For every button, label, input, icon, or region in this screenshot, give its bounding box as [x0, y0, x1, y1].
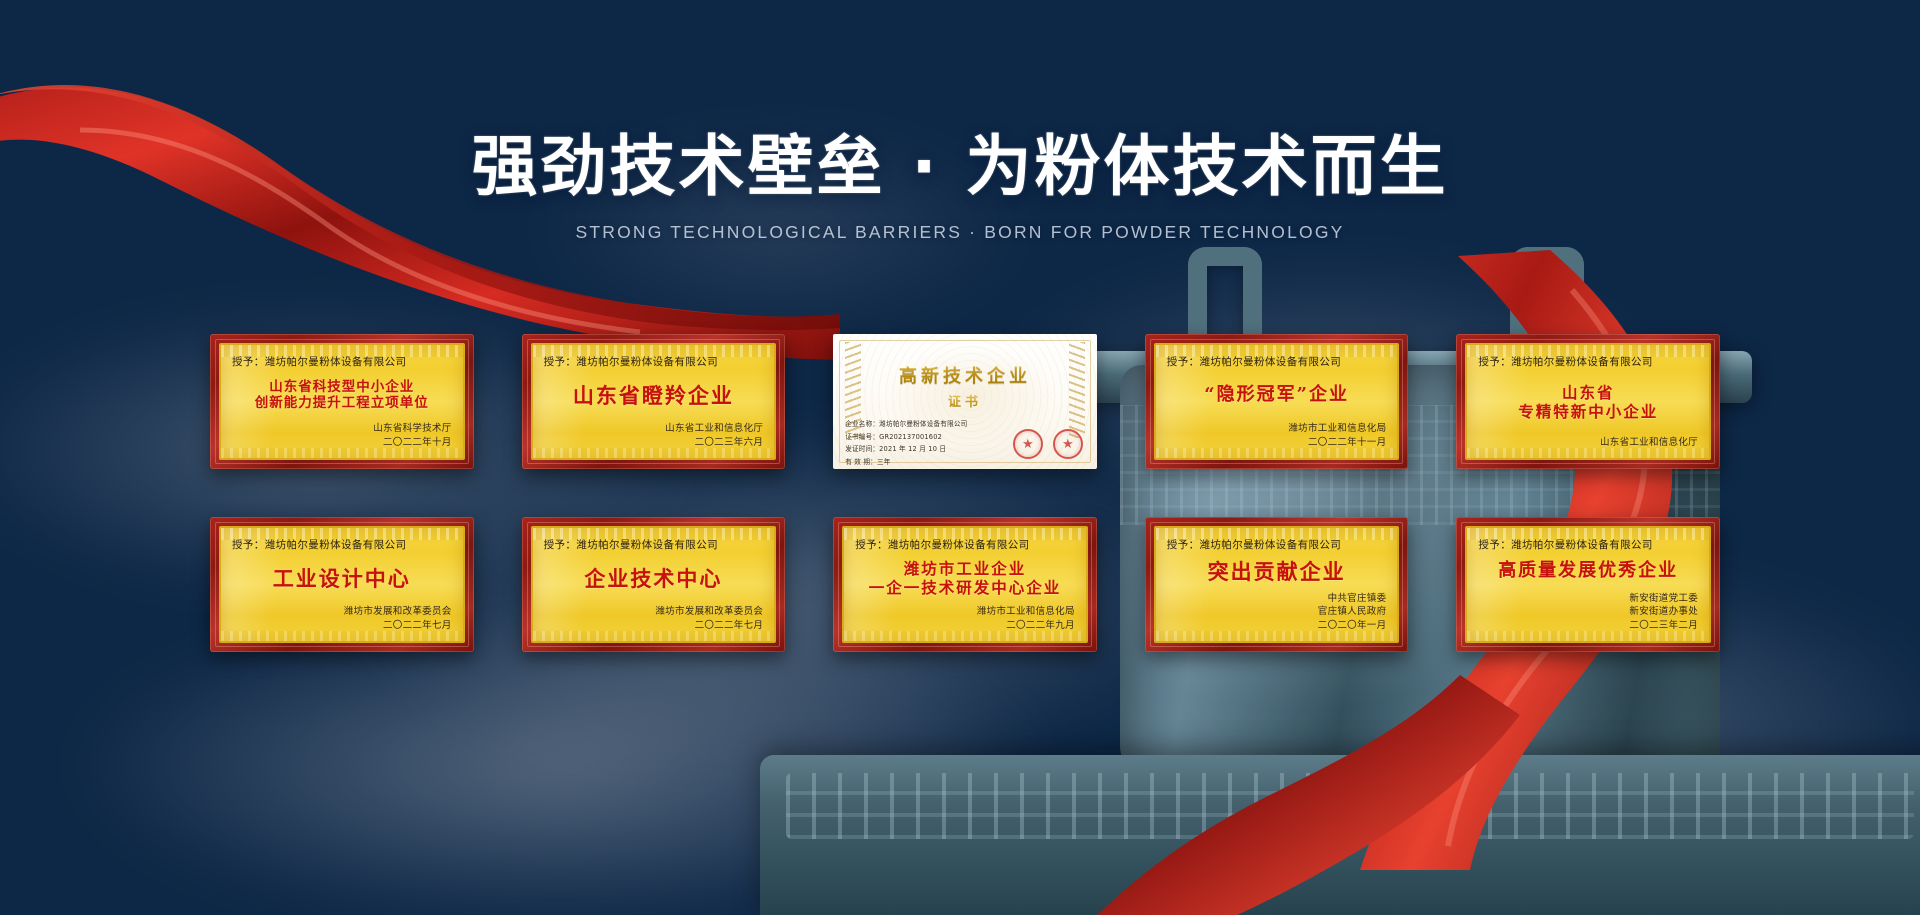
plaque-grantee: 授予：潍坊帕尔曼粉体设备有限公司 [855, 537, 1075, 552]
plaque-face: 授予：潍坊帕尔曼粉体设备有限公司“隐形冠军”企业潍坊市工业和信息化局二〇二二年十… [1154, 343, 1400, 460]
plaque-date: 二〇二三年六月 [544, 436, 764, 450]
plaque-award-title: 突出贡献企业 [1167, 552, 1387, 592]
plaque-issuer-block: 潍坊市发展和改革委员会二〇二二年七月 [544, 605, 764, 633]
certificate-paper[interactable]: 高新技术企业证书企业名称：潍坊帕尔曼粉体设备有限公司证书编号：GR2021370… [833, 334, 1097, 469]
plaque-issuer: 潍坊市发展和改革委员会 [544, 605, 764, 619]
plaque-title-line: 一企一技术研发中心企业 [869, 579, 1062, 597]
plaque-grantee: 授予：潍坊帕尔曼粉体设备有限公司 [1478, 537, 1698, 552]
plaque-date: 二〇二二年十一月 [1167, 436, 1387, 450]
plaque-issuer-block: 新安街道党工委新安街道办事处二〇二三年二月 [1478, 592, 1698, 633]
stone-plinth [760, 755, 1920, 915]
award-plaque[interactable]: 授予：潍坊帕尔曼粉体设备有限公司山东省专精特新中小企业山东省工业和信息化厅 [1456, 334, 1720, 469]
award-plaque[interactable]: 授予：潍坊帕尔曼粉体设备有限公司突出贡献企业中共官庄镇委官庄镇人民政府二〇二〇年… [1145, 517, 1409, 652]
plaque-issuer-block: 潍坊市发展和改革委员会二〇二二年七月 [232, 605, 452, 633]
official-seal-icon: ★ [1053, 429, 1083, 459]
banner-stage: 强劲技术壁垒 · 为粉体技术而生 STRONG TECHNOLOGICAL BA… [0, 0, 1920, 915]
plaque-date: 二〇二二年九月 [855, 619, 1075, 633]
plaque-issuer: 中共官庄镇委 [1167, 592, 1387, 606]
certificate-seals: ★★ [1013, 429, 1083, 459]
plaque-award-title: 山东省科技型中小企业创新能力提升工程立项单位 [232, 369, 452, 422]
award-plaque[interactable]: 授予：潍坊帕尔曼粉体设备有限公司企业技术中心潍坊市发展和改革委员会二〇二二年七月 [522, 517, 786, 652]
plaque-issuer: 新安街道办事处 [1478, 605, 1698, 619]
official-seal-icon: ★ [1013, 429, 1043, 459]
plaque-title-line: 企业技术中心 [584, 567, 722, 591]
plaque-title-line: 潍坊市工业企业 [904, 560, 1027, 578]
plaque-award-title: “隐形冠军”企业 [1167, 369, 1387, 422]
page-title: 强劲技术壁垒 · 为粉体技术而生 [0, 128, 1920, 206]
award-plaque[interactable]: 授予：潍坊帕尔曼粉体设备有限公司山东省瞪羚企业山东省工业和信息化厅二〇二三年六月 [522, 334, 786, 469]
plaque-issuer-block: 山东省工业和信息化厅二〇二三年六月 [544, 422, 764, 450]
plaque-grantee: 授予：潍坊帕尔曼粉体设备有限公司 [1167, 537, 1387, 552]
award-plaque[interactable]: 授予：潍坊帕尔曼粉体设备有限公司山东省科技型中小企业创新能力提升工程立项单位山东… [210, 334, 474, 469]
page-subtitle: STRONG TECHNOLOGICAL BARRIERS · BORN FOR… [0, 222, 1920, 243]
plaque-award-title: 高质量发展优秀企业 [1478, 552, 1698, 592]
plaque-face: 授予：潍坊帕尔曼粉体设备有限公司潍坊市工业企业一企一技术研发中心企业潍坊市工业和… [842, 526, 1088, 643]
certificate-grid: 授予：潍坊帕尔曼粉体设备有限公司山东省科技型中小企业创新能力提升工程立项单位山东… [210, 334, 1720, 652]
plaque-issuer: 山东省工业和信息化厅 [544, 422, 764, 436]
banner-title-block: 强劲技术壁垒 · 为粉体技术而生 STRONG TECHNOLOGICAL BA… [0, 128, 1920, 243]
plaque-grantee: 授予：潍坊帕尔曼粉体设备有限公司 [544, 354, 764, 369]
plaque-issuer: 潍坊市发展和改革委员会 [232, 605, 452, 619]
plaque-award-title: 潍坊市工业企业一企一技术研发中心企业 [855, 552, 1075, 605]
plaque-date: 二〇二〇年一月 [1167, 619, 1387, 633]
plaque-date: 二〇二二年十月 [232, 436, 452, 450]
award-plaque[interactable]: 授予：潍坊帕尔曼粉体设备有限公司“隐形冠军”企业潍坊市工业和信息化局二〇二二年十… [1145, 334, 1409, 469]
plaque-issuer: 潍坊市工业和信息化局 [1167, 422, 1387, 436]
plaque-issuer-block: 中共官庄镇委官庄镇人民政府二〇二〇年一月 [1167, 592, 1387, 633]
plaque-face: 授予：潍坊帕尔曼粉体设备有限公司山东省专精特新中小企业山东省工业和信息化厅 [1465, 343, 1711, 460]
plaque-face: 授予：潍坊帕尔曼粉体设备有限公司高质量发展优秀企业新安街道党工委新安街道办事处二… [1465, 526, 1711, 643]
plaque-title-line: 山东省瞪羚企业 [573, 384, 734, 408]
plaque-title-line: “隐形冠军”企业 [1204, 385, 1349, 406]
plaque-face: 授予：潍坊帕尔曼粉体设备有限公司突出贡献企业中共官庄镇委官庄镇人民政府二〇二〇年… [1154, 526, 1400, 643]
plaque-issuer: 官庄镇人民政府 [1167, 605, 1387, 619]
plaque-issuer-block: 山东省科学技术厅二〇二二年十月 [232, 422, 452, 450]
plaque-date: 二〇二三年二月 [1478, 619, 1698, 633]
plaque-face: 授予：潍坊帕尔曼粉体设备有限公司企业技术中心潍坊市发展和改革委员会二〇二二年七月 [531, 526, 777, 643]
plaque-issuer-block: 潍坊市工业和信息化局二〇二二年九月 [855, 605, 1075, 633]
plaque-issuer: 山东省工业和信息化厅 [1478, 436, 1698, 450]
plaque-title-line: 山东省科技型中小企业 [269, 380, 414, 396]
plaque-grantee: 授予：潍坊帕尔曼粉体设备有限公司 [1478, 354, 1698, 369]
plaque-date: 二〇二二年七月 [232, 619, 452, 633]
certificate-subtitle: 证书 [845, 391, 1085, 410]
plaque-title-line: 创新能力提升工程立项单位 [255, 396, 429, 412]
plaque-award-title: 企业技术中心 [544, 552, 764, 605]
plaque-award-title: 工业设计中心 [232, 552, 452, 605]
plaque-grantee: 授予：潍坊帕尔曼粉体设备有限公司 [544, 537, 764, 552]
award-plaque[interactable]: 授予：潍坊帕尔曼粉体设备有限公司潍坊市工业企业一企一技术研发中心企业潍坊市工业和… [833, 517, 1097, 652]
plaque-date: 二〇二二年七月 [544, 619, 764, 633]
plaque-title-line: 山东省 [1562, 384, 1615, 402]
plaque-grantee: 授予：潍坊帕尔曼粉体设备有限公司 [232, 354, 452, 369]
plaque-award-title: 山东省专精特新中小企业 [1478, 369, 1698, 436]
plaque-face: 授予：潍坊帕尔曼粉体设备有限公司工业设计中心潍坊市发展和改革委员会二〇二二年七月 [219, 526, 465, 643]
award-plaque[interactable]: 授予：潍坊帕尔曼粉体设备有限公司工业设计中心潍坊市发展和改革委员会二〇二二年七月 [210, 517, 474, 652]
plaque-title-line: 工业设计中心 [273, 567, 411, 591]
plaque-grantee: 授予：潍坊帕尔曼粉体设备有限公司 [232, 537, 452, 552]
plaque-issuer: 新安街道党工委 [1478, 592, 1698, 606]
plaque-issuer-block: 潍坊市工业和信息化局二〇二二年十一月 [1167, 422, 1387, 450]
plaque-face: 授予：潍坊帕尔曼粉体设备有限公司山东省瞪羚企业山东省工业和信息化厅二〇二三年六月 [531, 343, 777, 460]
plaque-grantee: 授予：潍坊帕尔曼粉体设备有限公司 [1167, 354, 1387, 369]
plaque-title-line: 专精特新中小企业 [1518, 403, 1658, 421]
plaque-issuer: 山东省科学技术厅 [232, 422, 452, 436]
plaque-face: 授予：潍坊帕尔曼粉体设备有限公司山东省科技型中小企业创新能力提升工程立项单位山东… [219, 343, 465, 460]
plaque-issuer-block: 山东省工业和信息化厅 [1478, 436, 1698, 450]
plaque-title-line: 突出贡献企业 [1208, 560, 1346, 584]
certificate-title: 高新技术企业 [845, 362, 1085, 388]
plaque-issuer: 潍坊市工业和信息化局 [855, 605, 1075, 619]
plaque-title-line: 高质量发展优秀企业 [1498, 561, 1678, 582]
award-plaque[interactable]: 授予：潍坊帕尔曼粉体设备有限公司高质量发展优秀企业新安街道党工委新安街道办事处二… [1456, 517, 1720, 652]
plaque-award-title: 山东省瞪羚企业 [544, 369, 764, 422]
